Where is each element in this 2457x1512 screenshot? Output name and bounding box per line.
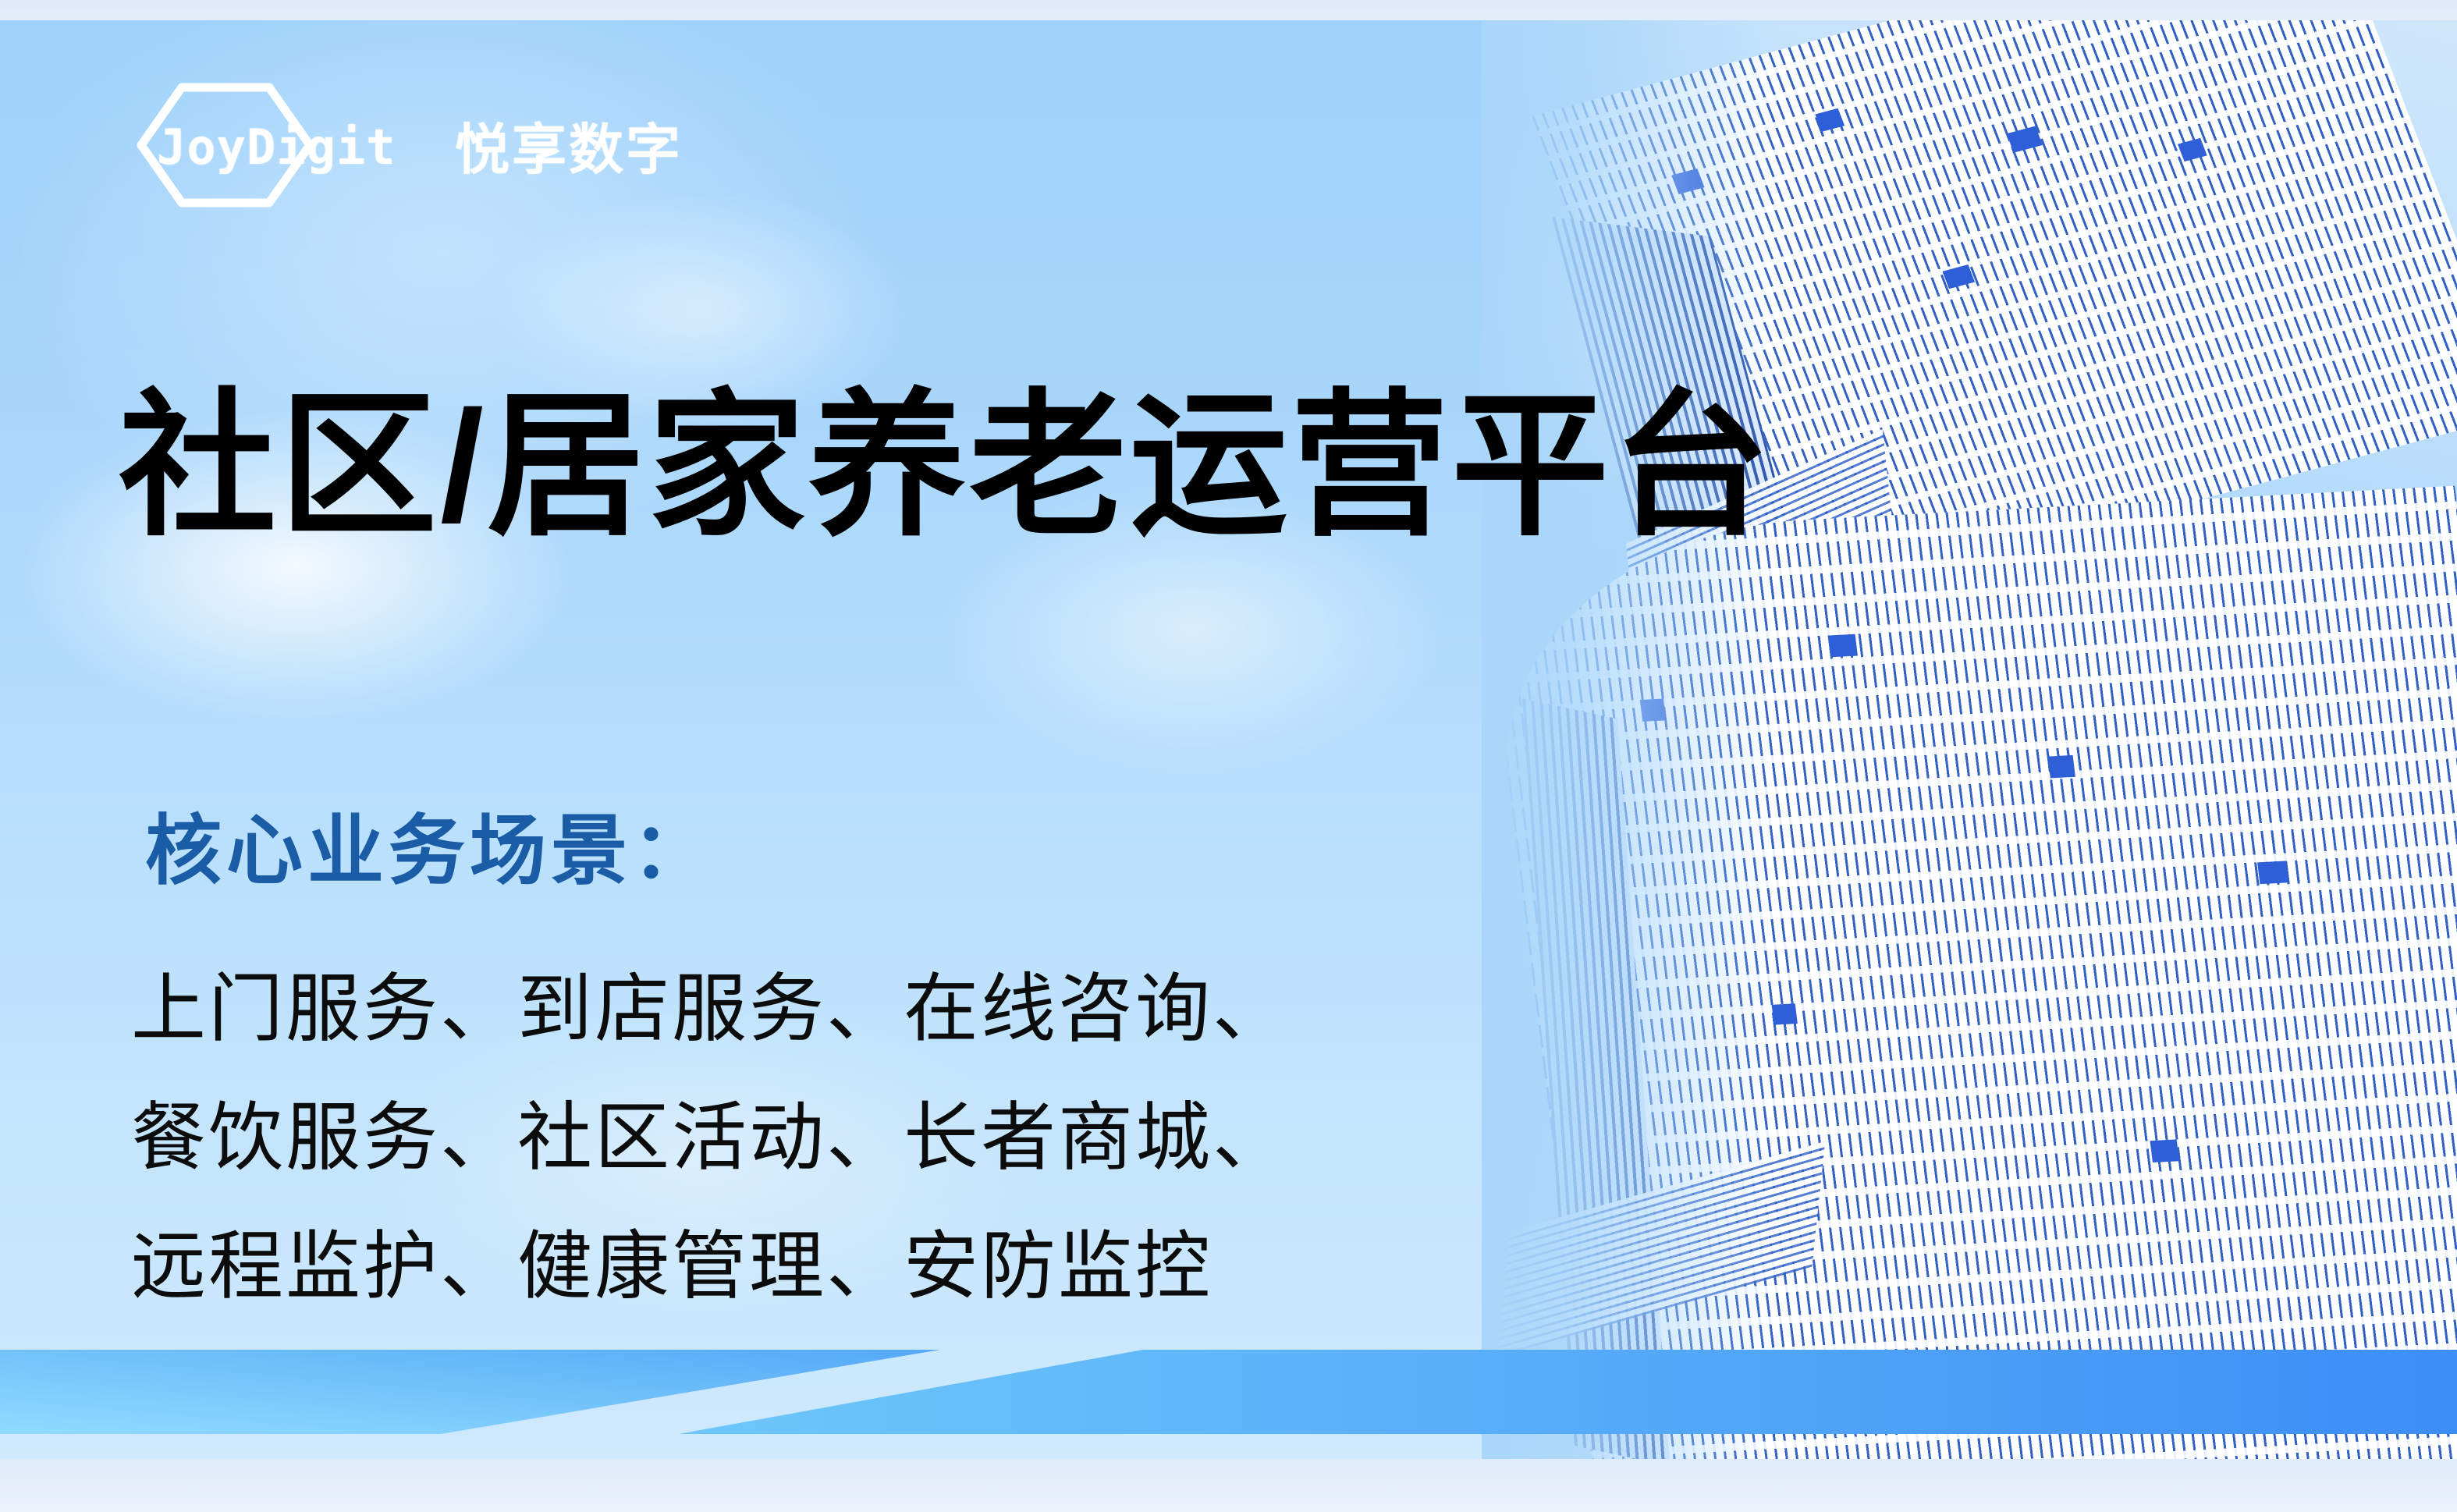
core-scenarios-section: 核心业务场景： 上门服务、到店服务、在线咨询、 餐饮服务、社区活动、长者商城、 … [145, 789, 1290, 1331]
brand-logo[interactable]: JoyDigit 悦享数字 [137, 83, 683, 208]
artwork-background: JoyDigit 悦享数字 社区/居家养老运营平台 核心业务场景： 上门服务、到… [0, 20, 2457, 1459]
scenario-list: 上门服务、到店服务、在线咨询、 餐饮服务、社区活动、长者商城、 远程监护、健康管… [145, 945, 1290, 1331]
list-item: 上门服务、到店服务、在线咨询、 [131, 945, 1290, 1074]
slide-canvas: JoyDigit 悦享数字 社区/居家养老运营平台 核心业务场景： 上门服务、到… [0, 0, 2457, 1512]
list-item: 远程监护、健康管理、安防监控 [131, 1202, 1290, 1331]
building-photo [1482, 20, 2457, 1459]
page-margin-bottom [0, 1459, 2457, 1512]
ribbon-right-shape [679, 1350, 2457, 1434]
section-title: 核心业务场景： [145, 789, 1290, 900]
logo-wordmark: JoyDigit [157, 119, 396, 176]
page-title: 社区/居家养老运营平台 [119, 383, 1773, 548]
page-margin-top [0, 0, 2457, 20]
list-item: 餐饮服务、社区活动、长者商城、 [131, 1074, 1290, 1202]
logo-chinese-name: 悦享数字 [455, 106, 683, 185]
footer-ribbon [0, 1350, 2457, 1459]
photo-edge-fade [1482, 20, 2457, 1459]
